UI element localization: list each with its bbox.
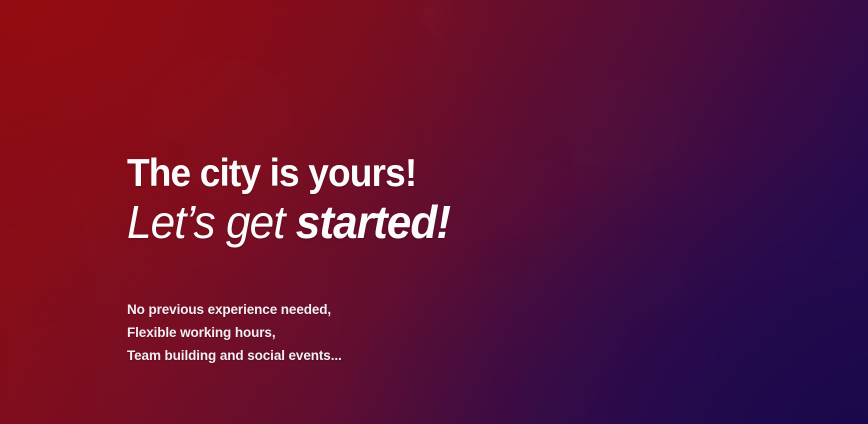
subtitle-line-2: Flexible working hours, — [127, 321, 342, 344]
hero-subtitle-list: No previous experience needed, Flexible … — [127, 298, 342, 367]
subtitle-line-3: Team building and social events... — [127, 344, 342, 367]
headline-line-1: The city is yours! — [127, 152, 447, 196]
hero-headline: The city is yours! Let’s get started! — [127, 152, 464, 248]
hero-banner: The city is yours! Let’s get started! No… — [0, 0, 868, 424]
headline-line-2-regular: Let’s get — [127, 196, 296, 248]
hero-content: The city is yours! Let’s get started! No… — [127, 0, 827, 424]
subtitle-line-1: No previous experience needed, — [127, 298, 342, 321]
headline-line-2-emphasis: started! — [296, 196, 450, 248]
headline-line-2: Let’s get started! — [127, 196, 450, 248]
